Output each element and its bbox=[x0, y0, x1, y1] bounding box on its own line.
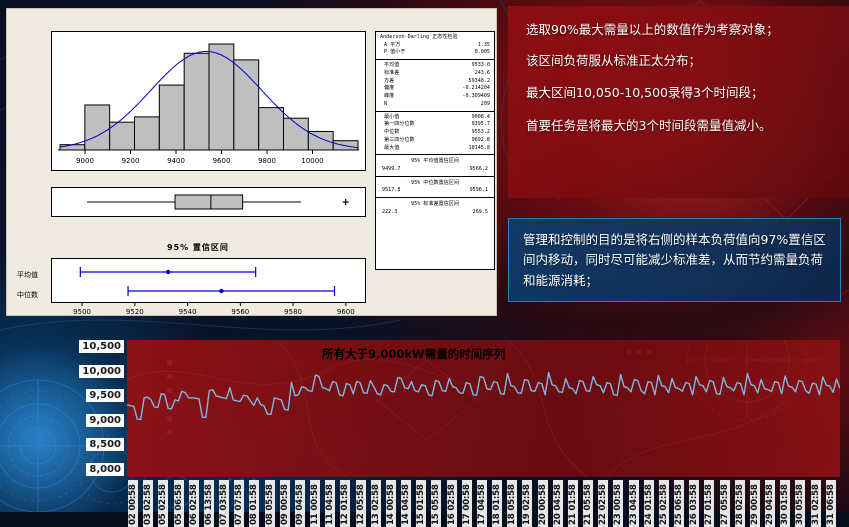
ci-axis-tick-label: 9520 bbox=[126, 308, 144, 316]
statistics-table: Anderson-Darling 正态性检验 A 平方1.35P 值小于0.00… bbox=[375, 31, 495, 270]
histogram-chart: 9000920094009600980010000 bbox=[51, 31, 366, 171]
x-axis-tick-label: 30 05:58 bbox=[795, 480, 805, 527]
ci-axis-tick-label: 9580 bbox=[284, 308, 302, 316]
ci-block-values: 9499.79566.2 bbox=[380, 166, 490, 174]
ad-title: Anderson-Darling 正态性检验 bbox=[380, 34, 458, 42]
stat-value: 9533.0 bbox=[472, 62, 490, 70]
x-axis-tick-label: 21 05:58 bbox=[583, 480, 593, 527]
quantile-rows: 最小值9008.4第一四分位数9395.7中位数9553.2第三四分位数9692… bbox=[380, 114, 490, 153]
x-axis-tick-label: 11 00:58 bbox=[310, 480, 320, 527]
x-axis-tick-label: 20 00:58 bbox=[538, 480, 548, 527]
boxplot-box bbox=[175, 195, 243, 209]
stat-row: 方差59348.2 bbox=[380, 78, 490, 86]
quantiles-section: 最小值9008.4第一四分位数9395.7中位数9553.2第三四分位数9692… bbox=[376, 111, 494, 155]
ci-lower: 222.3 bbox=[382, 209, 397, 217]
axis-tick-label: 9400 bbox=[167, 157, 185, 165]
stat-value: 209 bbox=[481, 101, 490, 109]
x-axis-tick-label: 25 02:58 bbox=[659, 480, 669, 527]
ci-intervals bbox=[80, 267, 334, 296]
stat-value: 10145.8 bbox=[469, 145, 490, 153]
x-axis-tick-label: 20 04:58 bbox=[553, 480, 563, 527]
ci-lower: 9517.8 bbox=[382, 187, 400, 195]
axis-tick-label: 9600 bbox=[213, 157, 231, 165]
histogram-bar bbox=[259, 108, 284, 150]
stat-key: 标准差 bbox=[380, 70, 399, 78]
stat-key: 最大值 bbox=[380, 145, 399, 153]
callout-red-line-1: 选取90%最大需量以上的数值作为考察对象； bbox=[526, 20, 833, 39]
x-axis-tick-label: 03 02:58 bbox=[143, 480, 153, 527]
ci-block-values: 222.3269.5 bbox=[380, 209, 490, 217]
stat-value: 9008.4 bbox=[472, 114, 490, 122]
x-axis-tick-label: 17 04:58 bbox=[477, 480, 487, 527]
stat-row: 最大值10145.8 bbox=[380, 145, 490, 153]
ci-axis-ticks: 950095209540956095809600 bbox=[51, 303, 368, 317]
y-axis-tick-label: 9,000 bbox=[86, 414, 124, 427]
moment-rows: 平均值9533.0标准差243.6方差59348.2偏度-0.214204峰度-… bbox=[380, 62, 490, 108]
ci-axis-tick-label: 9540 bbox=[179, 308, 197, 316]
stat-row: 标准差243.6 bbox=[380, 70, 490, 78]
ci-median-interval bbox=[128, 286, 334, 296]
x-axis-tick-label: 05 02:58 bbox=[158, 480, 168, 527]
timeseries-x-axis: 02 00:5803 02:5805 02:5805 06:5806 02:58… bbox=[127, 479, 840, 527]
ci-axis-tick-label: 9600 bbox=[337, 308, 355, 316]
x-axis-tick-label: 29 00:58 bbox=[750, 480, 760, 527]
axis-tick-label: 10000 bbox=[301, 157, 323, 165]
x-axis-tick-label: 30 01:58 bbox=[780, 480, 790, 527]
boxplot-outlier-marker bbox=[343, 199, 349, 205]
histogram-bar bbox=[135, 117, 160, 150]
x-axis-tick-label: 25 06:58 bbox=[674, 480, 684, 527]
x-axis-tick-label: 07 03:58 bbox=[219, 480, 229, 527]
stat-row: N209 bbox=[380, 101, 490, 109]
stat-value: -0.214204 bbox=[462, 85, 490, 93]
ci-upper: 269.5 bbox=[473, 209, 488, 217]
ci-svg bbox=[52, 259, 365, 302]
x-axis-tick-label: 11 04:58 bbox=[325, 480, 335, 527]
x-axis-tick-label: 08 01:58 bbox=[249, 480, 259, 527]
x-axis-tick-label: 19 02:58 bbox=[522, 480, 532, 527]
ci-section-stdev: 95% 标准差置信区间222.3269.5 bbox=[376, 197, 494, 218]
callout-blue-text: 管理和控制的目的是将右侧的样本负荷值向97%置信区间内移动，同时尽可能减少标准差… bbox=[523, 230, 826, 291]
y-axis-tick-label: 10,000 bbox=[79, 365, 124, 378]
ci-axis-tick-label: 9500 bbox=[73, 308, 91, 316]
histogram-bar bbox=[85, 105, 110, 150]
stat-key: 峰度 bbox=[380, 93, 394, 101]
boxplot-svg bbox=[52, 188, 365, 216]
ci-median-interval-point bbox=[219, 289, 223, 293]
y-axis-tick-label: 8,000 bbox=[86, 463, 124, 476]
stat-row: 第三四分位数9692.8 bbox=[380, 137, 490, 145]
x-axis-tick-label: 05 06:58 bbox=[174, 480, 184, 527]
timeseries-section: 10,50010,0009,5009,0008,5008,000 bbox=[0, 316, 849, 512]
x-axis-tick-label: 26 03:58 bbox=[689, 480, 699, 527]
x-axis-tick-label: 15 05:58 bbox=[431, 480, 441, 527]
x-axis-tick-label: 29 04:58 bbox=[765, 480, 775, 527]
x-axis-tick-label: 06 13:58 bbox=[204, 480, 214, 527]
stat-key: N bbox=[380, 101, 387, 109]
ci-mean-interval-point bbox=[166, 270, 170, 274]
histogram-svg: 9000920094009600980010000 bbox=[52, 32, 365, 170]
x-axis-tick-label: 15 01:58 bbox=[416, 480, 426, 527]
stat-value: 9692.8 bbox=[472, 137, 490, 145]
stat-row: 平均值9533.0 bbox=[380, 62, 490, 70]
axis-tick-label: 9800 bbox=[258, 157, 276, 165]
graphical-summary-panel: 9000920094009600980010000 95% 置信区间 平均值 中… bbox=[6, 8, 497, 316]
x-axis-tick-label: 18 05:58 bbox=[507, 480, 517, 527]
x-axis-tick-label: 27 05:58 bbox=[720, 480, 730, 527]
x-axis-tick-label: 14 04:58 bbox=[401, 480, 411, 527]
ci-block-head: 95% 标准差置信区间 bbox=[380, 201, 490, 209]
callout-red-line-2: 该区间负荷服从标准正太分布； bbox=[526, 51, 833, 70]
anderson-darling-section: Anderson-Darling 正态性检验 A 平方1.35P 值小于0.00… bbox=[376, 32, 494, 59]
stat-value: 243.6 bbox=[475, 70, 490, 78]
histogram-x-ticks: 9000920094009600980010000 bbox=[76, 150, 324, 165]
ci-upper: 9566.2 bbox=[470, 166, 488, 174]
x-axis-tick-label: 16 02:58 bbox=[447, 480, 457, 527]
callout-blue-text-box: 管理和控制的目的是将右侧的样本负荷值向97%置信区间内移动，同时尽可能减少标准差… bbox=[508, 218, 841, 302]
x-axis-tick-label: 23 04:58 bbox=[629, 480, 639, 527]
x-axis-tick-label: 07 07:58 bbox=[234, 480, 244, 527]
stat-key: 第一四分位数 bbox=[380, 121, 415, 129]
ci-row-label-mean: 平均值 bbox=[17, 270, 38, 280]
ci-row-label-median: 中位数 bbox=[17, 290, 38, 300]
x-axis-tick-label: 28 02:58 bbox=[735, 480, 745, 527]
axis-tick-label: 9200 bbox=[122, 157, 140, 165]
stat-key: P 值小于 bbox=[380, 49, 405, 57]
stat-key: 平均值 bbox=[380, 62, 399, 70]
x-axis-tick-label: 23 00:58 bbox=[613, 480, 623, 527]
ad-rows: A 平方1.35P 值小于0.005 bbox=[380, 42, 490, 57]
x-axis-tick-label: 09 04:58 bbox=[295, 480, 305, 527]
x-axis-tick-label: 13 02:58 bbox=[371, 480, 381, 527]
ci-block-values: 9517.89596.1 bbox=[380, 187, 490, 195]
stat-value: -0.309409 bbox=[462, 93, 490, 101]
x-axis-tick-label: 24 01:58 bbox=[644, 480, 654, 527]
y-axis-tick-label: 10,500 bbox=[79, 340, 124, 353]
callout-red-line-3: 最大区间10,050-10,500录得3个时间段； bbox=[526, 83, 833, 102]
stat-row: 峰度-0.309409 bbox=[380, 93, 490, 101]
boxplot-elements bbox=[87, 195, 349, 209]
ci-block-head: 95% 平均值置信区间 bbox=[380, 158, 490, 166]
histogram-bar bbox=[184, 53, 209, 150]
ci-section-mean: 95% 平均值置信区间9499.79566.2 bbox=[376, 154, 494, 175]
ci-chart-title: 95% 置信区间 bbox=[167, 242, 229, 253]
ci-section-median: 95% 中位数置信区间9517.89596.1 bbox=[376, 176, 494, 197]
ci-chart bbox=[51, 258, 366, 303]
ci-axis-tick-label: 9560 bbox=[231, 308, 249, 316]
stat-row: P 值小于0.005 bbox=[380, 49, 490, 57]
x-axis-tick-label: 08 05:58 bbox=[265, 480, 275, 527]
histogram-bar bbox=[60, 145, 85, 150]
stat-key: 偏度 bbox=[380, 85, 394, 93]
x-axis-tick-label: 31 02:58 bbox=[811, 480, 821, 527]
timeseries-title: 所有大于9,000kW需量的时间序列 bbox=[322, 346, 505, 362]
stat-row: 中位数9553.2 bbox=[380, 129, 490, 137]
x-axis-tick-label: 12 01:58 bbox=[340, 480, 350, 527]
y-axis-tick-label: 8,500 bbox=[86, 438, 124, 451]
stat-row: 偏度-0.214204 bbox=[380, 85, 490, 93]
x-axis-tick-label: 27 01:58 bbox=[704, 480, 714, 527]
stat-row: 第一四分位数9395.7 bbox=[380, 121, 490, 129]
stat-key: 中位数 bbox=[380, 129, 399, 137]
timeseries-y-axis: 10,50010,0009,5009,0008,5008,000 bbox=[78, 334, 124, 484]
stat-value: 1.35 bbox=[478, 42, 490, 50]
timeseries-data-line bbox=[127, 372, 840, 419]
x-axis-tick-label: 21 01:58 bbox=[568, 480, 578, 527]
stat-value: 0.005 bbox=[475, 49, 490, 57]
x-axis-tick-label: 02 00:58 bbox=[128, 480, 138, 527]
callout-red-text-box: 选取90%最大需量以上的数值作为考察对象； 该区间负荷服从标准正太分布； 最大区… bbox=[508, 6, 849, 198]
histogram-bars bbox=[60, 44, 358, 150]
y-axis-tick-label: 9,500 bbox=[86, 389, 124, 402]
x-axis-tick-label: 12 05:58 bbox=[356, 480, 366, 527]
x-axis-tick-label: 17 00:58 bbox=[462, 480, 472, 527]
x-axis-tick-label: 09 00:58 bbox=[280, 480, 290, 527]
ad-title-row: Anderson-Darling 正态性检验 bbox=[380, 34, 490, 42]
axis-tick-label: 9000 bbox=[76, 157, 94, 165]
boxplot-chart bbox=[51, 187, 366, 217]
x-axis-tick-label: 22 02:58 bbox=[598, 480, 608, 527]
moments-section: 平均值9533.0标准差243.6方差59348.2偏度-0.214204峰度-… bbox=[376, 59, 494, 110]
ci-lower: 9499.7 bbox=[382, 166, 400, 174]
stat-value: 59348.2 bbox=[469, 78, 490, 86]
stat-value: 9395.7 bbox=[472, 121, 490, 129]
callout-red-line-4: 首要任务是将最大的3个时间段需量值减小。 bbox=[526, 116, 833, 135]
histogram-bar bbox=[159, 85, 184, 150]
ci-upper: 9596.1 bbox=[470, 187, 488, 195]
x-axis-tick-label: 06 02:58 bbox=[189, 480, 199, 527]
x-axis-tick-label: 18 01:58 bbox=[492, 480, 502, 527]
x-axis-tick-label: 14 00:58 bbox=[386, 480, 396, 527]
stat-value: 9553.2 bbox=[472, 129, 490, 137]
x-axis-tick-label: 31 06:58 bbox=[826, 480, 836, 527]
stat-key: 第三四分位数 bbox=[380, 137, 415, 145]
ci-block-head: 95% 中位数置信区间 bbox=[380, 180, 490, 188]
